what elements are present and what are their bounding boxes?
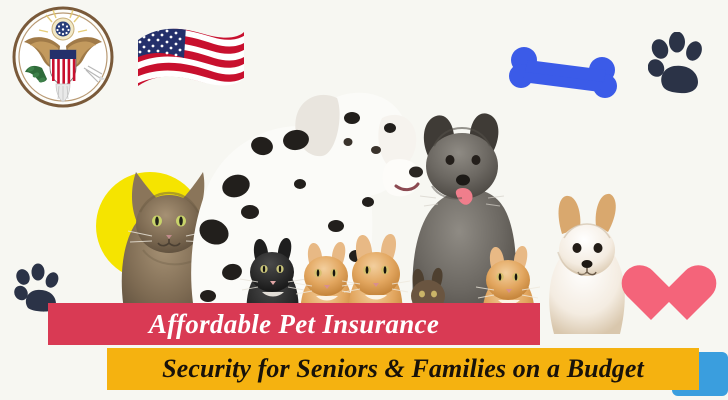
pink-heart-icon xyxy=(619,264,685,330)
headline-primary-banner: Affordable Pet Insurance xyxy=(48,303,540,345)
chihuahua-dog xyxy=(549,194,625,334)
headline-secondary-text: Security for Seniors & Families on a Bud… xyxy=(162,354,644,384)
paw-print-icon-top-right xyxy=(648,32,708,94)
united-states-flag-icon xyxy=(132,22,248,108)
headline-secondary-banner: Security for Seniors & Families on a Bud… xyxy=(107,348,699,390)
pet-insurance-banner: R Affordable Pet Insurance Security for … xyxy=(0,0,728,400)
blue-bone-icon xyxy=(508,46,618,100)
great-seal-of-the-united-states-icon xyxy=(12,6,114,108)
headline-primary-text: Affordable Pet Insurance xyxy=(149,309,439,340)
